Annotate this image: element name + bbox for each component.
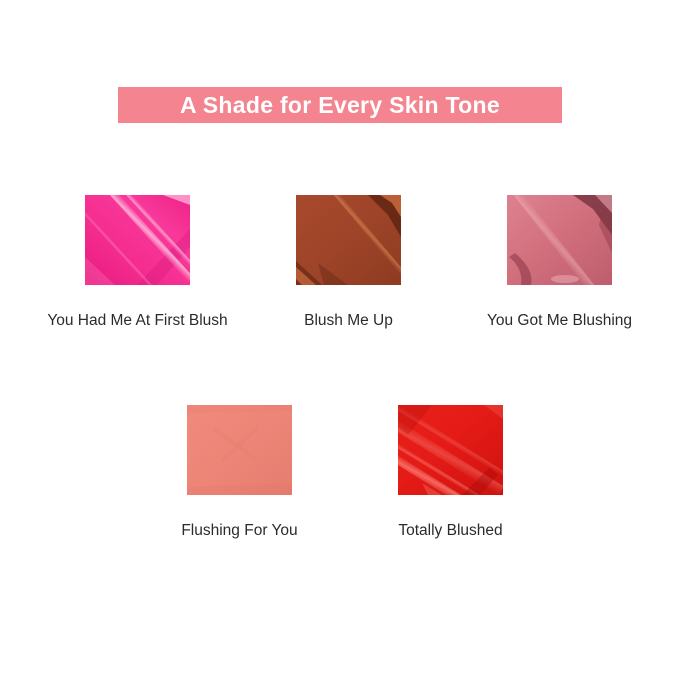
shade-item-you-got-me-blushing[interactable]: You Got Me Blushing (507, 195, 612, 331)
shade-label: You Had Me At First Blush (47, 312, 227, 331)
swatch-blush-me-up[interactable] (296, 195, 401, 285)
banner: A Shade for Every Skin Tone (118, 87, 562, 123)
shade-label: Totally Blushed (398, 522, 502, 541)
shade-label: Flushing For You (181, 522, 297, 541)
shade-item-blush-me-up[interactable]: Blush Me Up (296, 195, 401, 331)
product-shade-card: A Shade for Every Skin Tone (0, 0, 679, 679)
shade-label: Blush Me Up (304, 312, 393, 331)
swatch-texture-icon (85, 195, 190, 285)
page-title: A Shade for Every Skin Tone (180, 94, 500, 117)
swatch-you-had-me-at-first-blush[interactable] (85, 195, 190, 285)
shade-item-totally-blushed[interactable]: Totally Blushed (398, 405, 503, 541)
swatch-texture-icon (398, 405, 503, 495)
swatch-totally-blushed[interactable] (398, 405, 503, 495)
shade-row-2: Flushing For You (0, 405, 679, 541)
swatch-texture-icon (187, 405, 292, 495)
swatch-texture-icon (296, 195, 401, 285)
swatch-texture-icon (507, 195, 612, 285)
shade-item-flushing-for-you[interactable]: Flushing For You (187, 405, 292, 541)
swatch-flushing-for-you[interactable] (187, 405, 292, 495)
shade-row-1: You Had Me At First Blush (0, 195, 679, 331)
swatch-you-got-me-blushing[interactable] (507, 195, 612, 285)
shade-label: You Got Me Blushing (487, 312, 632, 331)
shade-item-you-had-me-at-first-blush[interactable]: You Had Me At First Blush (85, 195, 190, 331)
